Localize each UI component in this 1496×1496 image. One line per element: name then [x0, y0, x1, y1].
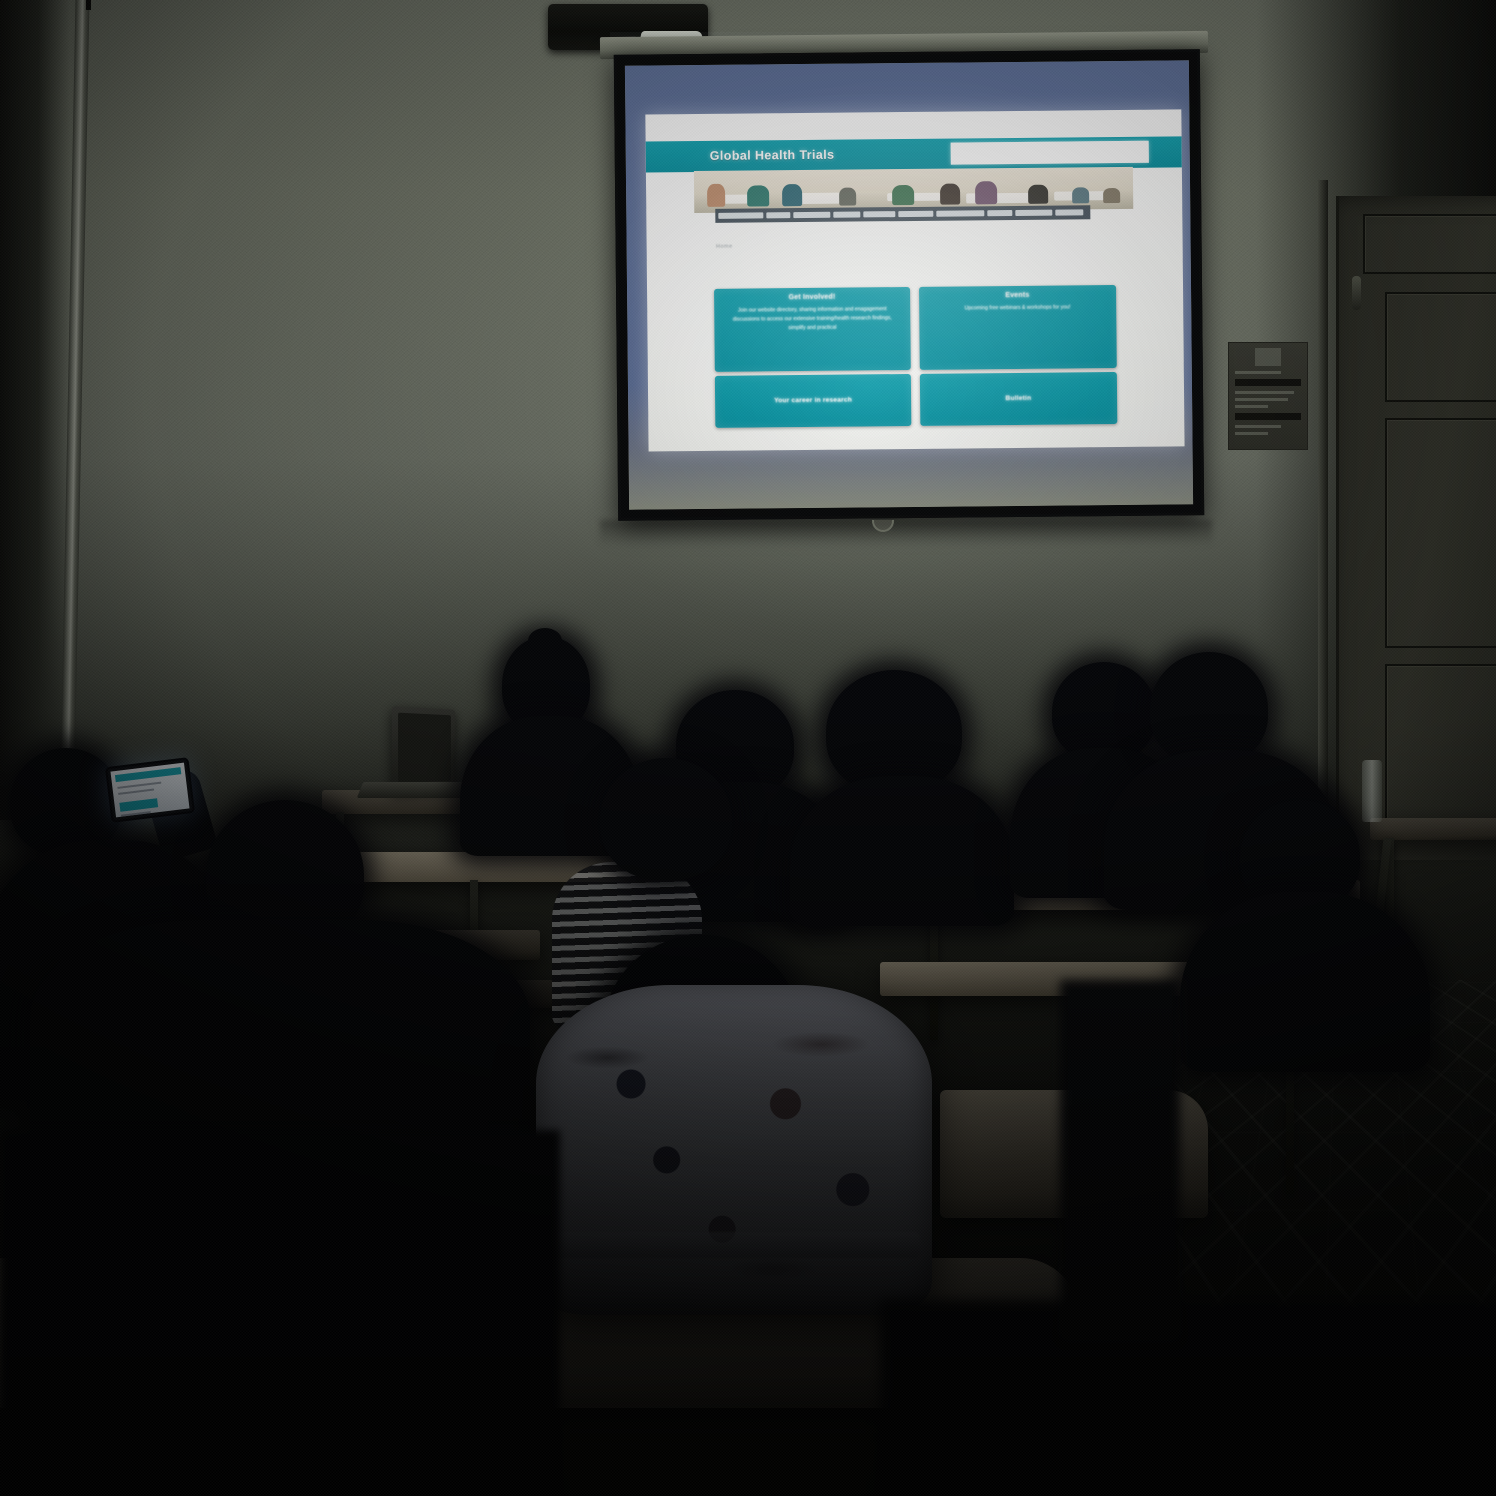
- card-title: Events: [1005, 292, 1029, 299]
- nav-item[interactable]: [793, 212, 830, 219]
- search-input[interactable]: [951, 141, 1149, 165]
- nav-item[interactable]: [719, 212, 763, 219]
- laptop[interactable]: Open laptop: [392, 706, 456, 792]
- card-body: Join our website directory, sharing info…: [725, 305, 900, 334]
- foreground-shadow: [880, 1300, 1496, 1496]
- projection-screen: Global Health Trials: [614, 49, 1204, 521]
- classroom-photo: Wall notice Projector Global Health Tria…: [0, 0, 1496, 1496]
- notice-logo: [1255, 348, 1281, 366]
- laptop-screen: [398, 713, 451, 784]
- notice-line: [1235, 425, 1281, 428]
- projected-webpage[interactable]: Global Health Trials: [645, 109, 1184, 452]
- breadcrumb[interactable]: Home: [716, 243, 733, 249]
- person-floral-blouse-body: [536, 985, 932, 1315]
- nav-item[interactable]: [1056, 209, 1084, 216]
- door-panel-upper: [1385, 292, 1496, 402]
- foreground-shadow: [1060, 980, 1180, 1340]
- nav-item[interactable]: [863, 211, 894, 218]
- card-get-involved[interactable]: Get Involved! Join our website directory…: [714, 287, 911, 372]
- site-navigation[interactable]: [716, 205, 1091, 223]
- card-title: Your career in research: [774, 397, 852, 405]
- card-title: Get Involved!: [789, 294, 836, 301]
- attendee-body: [790, 776, 1014, 926]
- card-bulletin[interactable]: Bulletin: [920, 372, 1117, 425]
- screen-shadow: [600, 520, 1212, 546]
- site-title: Global Health Trials: [710, 148, 835, 163]
- notice-line: [1235, 398, 1288, 401]
- nav-item[interactable]: [898, 211, 933, 218]
- notice-block: [1235, 413, 1301, 420]
- card-grid: Get Involved! Join our website directory…: [714, 285, 1117, 427]
- notice-line: [1235, 371, 1281, 374]
- card-body: Upcoming free webinars & workshops for y…: [965, 304, 1071, 314]
- notice-line: [1235, 391, 1294, 394]
- foreground-shadow: [0, 1130, 560, 1496]
- door-panel-middle: [1385, 418, 1496, 648]
- blouse-belt: [548, 1232, 920, 1258]
- door-handle[interactable]: [1352, 276, 1361, 310]
- notice-line: [1235, 432, 1268, 435]
- attendee-head: [1052, 662, 1156, 762]
- attendee-body: [1180, 892, 1430, 1072]
- wall-left-shadow: [0, 0, 70, 820]
- projector-mount: [86, 0, 91, 10]
- card-events[interactable]: Events Upcoming free webinars & workshop…: [919, 285, 1116, 370]
- desk: [1370, 818, 1496, 840]
- phone-screen: [110, 763, 189, 818]
- nav-item[interactable]: [936, 210, 984, 217]
- notice-block: [1235, 379, 1301, 386]
- nav-item[interactable]: [987, 210, 1013, 217]
- notice-line: [1235, 405, 1268, 408]
- card-your-career-in-research[interactable]: Your career in research: [715, 374, 912, 427]
- wall-notice: Wall notice: [1228, 342, 1308, 450]
- nav-item[interactable]: [833, 211, 861, 218]
- nav-item[interactable]: [1016, 209, 1053, 216]
- smartphone[interactable]: Smartphone photographing the screen: [105, 757, 195, 823]
- card-title: Bulletin: [1005, 395, 1031, 402]
- screen-surface: Global Health Trials: [625, 60, 1193, 509]
- laptop-keyboard-base: [357, 782, 473, 798]
- attendee-head: [600, 758, 732, 880]
- attendee-head: [1150, 652, 1268, 766]
- water-bottle: Water bottle: [1362, 760, 1382, 822]
- attendee-hair-bun: [528, 628, 562, 654]
- nav-item[interactable]: [766, 212, 790, 219]
- door-panel-top: [1363, 214, 1496, 274]
